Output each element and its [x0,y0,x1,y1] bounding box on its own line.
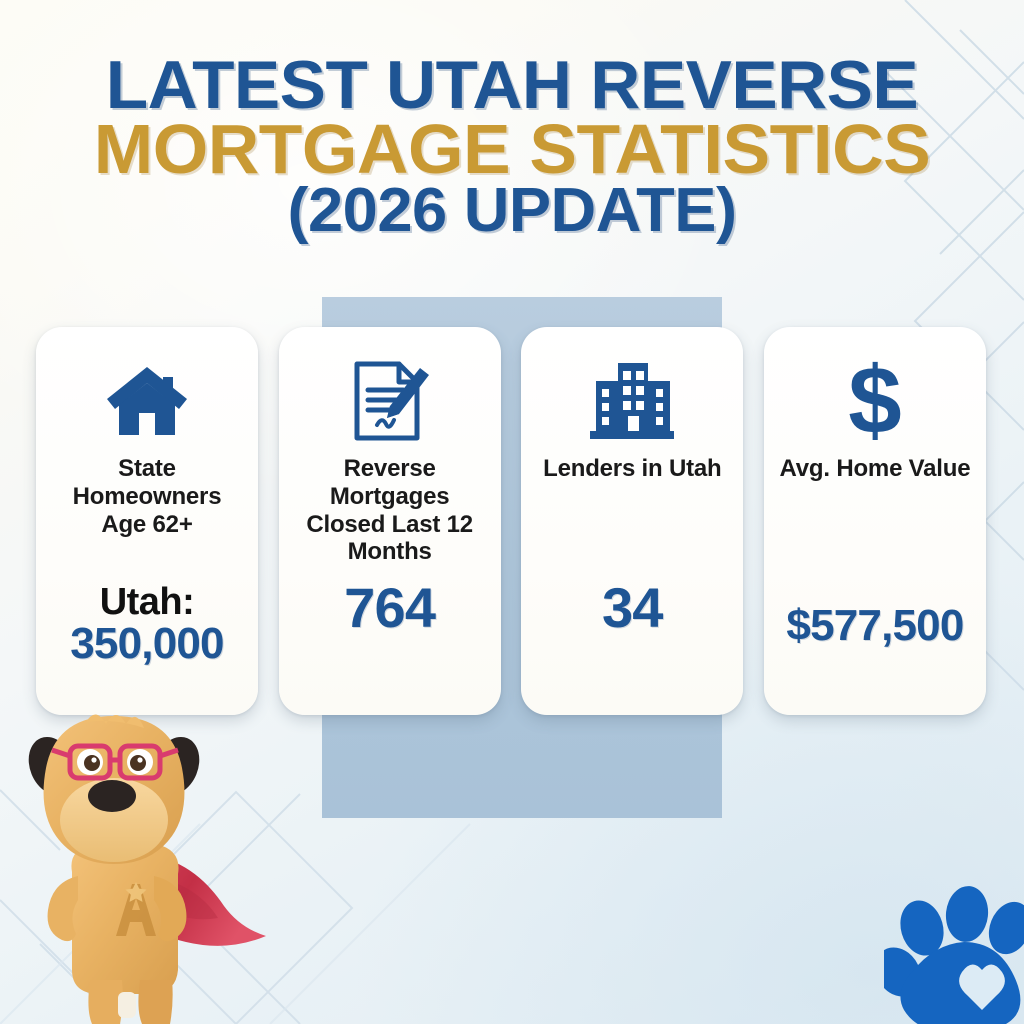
stat-card-value-group: 764 [291,579,489,697]
stat-card-label: Reverse Mortgages Closed Last 12 Months [291,455,489,566]
stat-card-state-homeowners[interactable]: State Homeowners Age 62+ Utah: 350,000 [36,327,258,715]
stat-card-label: Lenders in Utah [543,455,721,483]
infographic-canvas: LATEST UTAH REVERSE MORTGAGE STATISTICS … [0,0,1024,1024]
stat-card-value-group: $577,500 [776,603,974,697]
stat-card-value-prefix: Utah: [48,583,246,622]
title-line-1: LATEST UTAH REVERSE [0,52,1024,119]
stat-card-reverse-mortgages-closed[interactable]: Reverse Mortgages Closed Last 12 Months … [279,327,501,715]
stat-card-value-group: Utah: 350,000 [48,583,246,698]
office-buildings-icon [584,353,680,449]
page-title: LATEST UTAH REVERSE MORTGAGE STATISTICS … [0,52,1024,242]
house-icon [101,353,193,449]
dollar-sign-icon: $ [839,353,911,449]
stat-card-avg-home-value[interactable]: $ Avg. Home Value $577,500 [764,327,986,715]
stat-card-value: $577,500 [776,603,974,649]
title-line-3: (2026 UPDATE) [0,181,1024,242]
stat-card-value: 764 [291,579,489,637]
stat-cards-row: State Homeowners Age 62+ Utah: 350,000 [36,327,986,715]
document-signature-icon [347,353,433,449]
svg-text:$: $ [848,353,901,449]
stat-card-label: State Homeowners Age 62+ [48,455,246,538]
paw-print-logo [884,880,1024,1024]
stat-card-value: 34 [533,579,731,637]
superhero-dog-mascot [0,704,294,1024]
stat-card-lenders-in-utah[interactable]: Lenders in Utah 34 [521,327,743,715]
stat-card-value-group: 34 [533,579,731,697]
title-line-2: MORTGAGE STATISTICS [0,115,1024,184]
stat-card-value: 350,000 [48,621,246,667]
mascot-nose [88,780,136,812]
stat-card-label: Avg. Home Value [780,455,971,483]
